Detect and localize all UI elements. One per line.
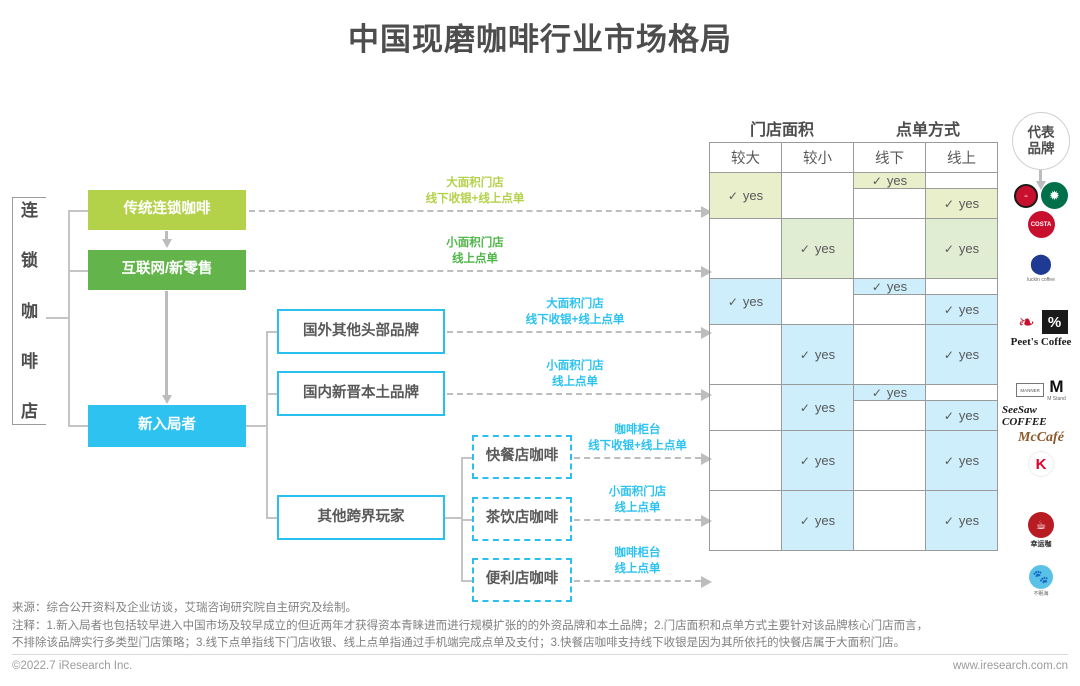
cell-order-online: ✓yes (926, 189, 998, 219)
check-icon: ✓ (728, 189, 738, 203)
footnote-line-1: 注释：1.新入局者也包括较早进入中国市场及较早成立的但近两年才获得资本青睐进而进… (12, 618, 1072, 635)
category-box-internet-newretail[interactable]: 互联网/新零售 (88, 250, 246, 290)
yes-marker: ✓yes (800, 513, 835, 528)
cell-order-online-empty (926, 279, 998, 295)
footer-divider (12, 654, 1068, 655)
cell-order-online: ✓yes (926, 431, 998, 491)
flow-label-line2: 线上点单 (555, 501, 720, 517)
brand-logos-row-4: MANNER M M Stand SeeSaw COFFEE (1002, 378, 1080, 428)
subcategory-box-cross-industry-players[interactable]: 其他跨界玩家 (277, 495, 445, 540)
logo-m-stand: M M Stand (1047, 378, 1066, 402)
bracket-col2-trunk (266, 331, 268, 517)
flow-label-row-6: 小面积门店 线上点单 (555, 485, 720, 516)
footnotes: 注释：1.新入局者也包括较早进入中国市场及较早成立的但近两年才获得资本青睐进而进… (12, 618, 1072, 653)
flow-arrow-row-5 (574, 457, 701, 459)
bracket-col1-stem (46, 317, 69, 319)
check-icon: ✓ (944, 197, 954, 211)
yes-marker: ✓yes (944, 513, 979, 528)
cell-area-small (782, 279, 854, 325)
cell-order-offline (854, 219, 926, 279)
flow-label-row-5: 咖啡柜台 线下收银+线上点单 (555, 423, 720, 454)
yes-marker: ✓yes (944, 453, 979, 468)
brand-logos-row-1: ☕ ✹ COSTA (1002, 182, 1080, 238)
cell-area-large (710, 219, 782, 279)
cell-order-online: ✓yes (926, 491, 998, 551)
table-body: ✓yes✓yes✓yes✓yes✓yes✓yes✓yes✓yes✓yes✓yes… (710, 173, 998, 551)
cell-order-offline (854, 491, 926, 551)
bracket-col1-arm-1 (68, 210, 89, 212)
bracket-col1-arm-2 (68, 270, 89, 272)
cell-order-offline: ✓yes (854, 385, 926, 401)
brand-logos-row-2: ⬤ luckin coffee (1002, 250, 1080, 283)
arrow-internet-to-new-entrants (165, 291, 168, 396)
check-icon: ✓ (944, 454, 954, 468)
page-title: 中国现磨咖啡行业市场格局 (0, 14, 1080, 59)
cell-order-online-empty (926, 173, 998, 189)
yes-marker: ✓yes (800, 453, 835, 468)
logo-mccafe: McCafé (1002, 430, 1080, 446)
logo-luckin-coffee: ⬤ luckin coffee (1027, 250, 1055, 283)
arrow-traditional-to-internet (165, 231, 168, 240)
cell-order-online: ✓yes (926, 401, 998, 431)
check-icon: ✓ (944, 303, 954, 317)
flow-arrow-row-1 (249, 210, 701, 212)
capability-matrix-table: 较大 较小 线下 线上 ✓yes✓yes✓yes✓yes✓yes✓yes✓yes… (709, 142, 998, 551)
brand-logos-row-5: McCafé K (1002, 430, 1080, 477)
cell-area-small (782, 173, 854, 219)
table-row: ✓yes✓yes (710, 491, 998, 551)
table-row: ✓yes✓yes (710, 279, 998, 295)
yes-marker: ✓yes (944, 347, 979, 362)
flow-arrow-row-2 (249, 270, 701, 272)
subcategory-box-foreign-top-brands[interactable]: 国外其他头部品牌 (277, 309, 445, 354)
flow-label-line1: 小面积门店 (335, 236, 615, 252)
yes-marker: ✓yes (944, 196, 979, 211)
yes-marker: ✓yes (872, 173, 907, 188)
subcategory-box-domestic-new-brands[interactable]: 国内新晋本土品牌 (277, 371, 445, 416)
logo-wordmark: McCafé (1018, 430, 1064, 446)
logo-caption: 不眠海 (1033, 590, 1048, 597)
footer-copyright: ©2022.7 iResearch Inc. (12, 660, 132, 672)
brand-column-arrow-icon (1039, 170, 1042, 182)
check-icon: ✓ (728, 295, 738, 309)
flow-label-line1: 小面积门店 (450, 359, 700, 375)
yes-marker: ✓yes (728, 294, 763, 309)
slide-canvas: 中国现磨咖啡行业市场格局 连 锁 咖 啡 店 传统连锁咖啡 互联网/新零售 新入… (0, 0, 1080, 686)
left-label-char-0: 连 (21, 202, 38, 219)
cell-order-online: ✓yes (926, 295, 998, 325)
left-label-char-3: 啡 (21, 353, 38, 370)
flow-arrow-row-7 (574, 580, 701, 582)
logo-tim-hortons: ❧ (1015, 310, 1039, 334)
category-box-label: 传统连锁咖啡 (124, 201, 211, 218)
logo-caption: M Stand (1047, 396, 1066, 402)
flow-label-row-1: 大面积门店 线下收银+线上点单 (335, 176, 615, 207)
table-row: ✓yes✓yes (710, 219, 998, 279)
category-box-label: 互联网/新零售 (121, 261, 212, 278)
table-col-header-area-small: 较小 (782, 143, 854, 173)
table-row: ✓yes✓yes (710, 173, 998, 189)
category-box-traditional-chain[interactable]: 传统连锁咖啡 (88, 190, 246, 230)
cell-order-offline (854, 325, 926, 385)
cell-order-offline (854, 431, 926, 491)
footnote-line-2: 不排除该品牌实行多类型门店策略；3.线下点单指线下门店收银、线上点单指通过手机端… (12, 635, 1072, 652)
logo-arabica: % (1042, 310, 1068, 334)
cell-order-online: ✓yes (926, 325, 998, 385)
cell-area-large (710, 385, 782, 431)
check-icon: ✓ (800, 348, 810, 362)
check-icon: ✓ (872, 280, 882, 294)
flow-label-line2: 线上点单 (555, 562, 720, 578)
flow-label-line2: 线下收银+线上点单 (555, 439, 720, 455)
cell-order-online: ✓yes (926, 219, 998, 279)
check-icon: ✓ (800, 401, 810, 415)
logo-starbucks: ✹ (1041, 182, 1068, 209)
bracket-col1-arm-3 (68, 425, 89, 427)
table-col-header-order-online: 线上 (926, 143, 998, 173)
check-icon: ✓ (944, 348, 954, 362)
cell-area-large (710, 325, 782, 385)
logo-wordmark: SeeSaw COFFEE (1002, 404, 1080, 428)
logo-peets-coffee: Peet's Coffee (1002, 336, 1080, 348)
channel-box-label: 快餐店咖啡 (486, 448, 559, 465)
check-icon: ✓ (944, 242, 954, 256)
cell-area-large (710, 491, 782, 551)
bracket-col2-stem (246, 425, 266, 427)
brand-logos-row-3: ❧ % Peet's Coffee (1002, 310, 1080, 348)
cell-area-small: ✓yes (782, 325, 854, 385)
flow-label-row-7: 咖啡柜台 线上点单 (555, 546, 720, 577)
cell-order-online-empty (926, 385, 998, 401)
logo-caption: luckin coffee (1027, 277, 1055, 283)
cell-order-offline-empty (854, 401, 926, 431)
yes-marker: ✓yes (800, 241, 835, 256)
yes-marker: ✓yes (872, 279, 907, 294)
table-col-header-order-offline: 线下 (854, 143, 926, 173)
logo-wordmark: Peet's Coffee (1011, 336, 1072, 348)
check-icon: ✓ (872, 386, 882, 400)
left-label-char-1: 锁 (21, 252, 38, 269)
cell-area-small: ✓yes (782, 491, 854, 551)
footer-website[interactable]: www.iresearch.com.cn (953, 660, 1068, 672)
flow-label-row-3: 大面积门店 线下收银+线上点单 (450, 297, 700, 328)
logo-xingyunka: ☕ 幸运咖 (1028, 512, 1054, 549)
channel-box-label: 便利店咖啡 (486, 571, 559, 588)
yes-marker: ✓yes (800, 400, 835, 415)
logo-pacific-coffee: ☕ (1014, 184, 1038, 208)
channel-box-label: 茶饮店咖啡 (486, 510, 559, 527)
cell-area-large: ✓yes (710, 173, 782, 219)
check-icon: ✓ (800, 514, 810, 528)
cell-area-large (710, 431, 782, 491)
logo-caption: 幸运咖 (1031, 539, 1052, 549)
category-box-label: 新入局者 (138, 417, 196, 434)
flow-label-line2: 线上点单 (450, 375, 700, 391)
logo-manner: MANNER (1016, 383, 1044, 397)
flow-label-line2: 线下收银+线上点单 (335, 192, 615, 208)
flow-label-line1: 小面积门店 (555, 485, 720, 501)
flow-label-row-4: 小面积门店 线上点单 (450, 359, 700, 390)
flow-label-line1: 大面积门店 (335, 176, 615, 192)
flow-arrow-row-3 (447, 331, 701, 333)
table-col-header-area-large: 较大 (710, 143, 782, 173)
cell-area-small: ✓yes (782, 431, 854, 491)
cell-area-large: ✓yes (710, 279, 782, 325)
yes-marker: ✓yes (872, 385, 907, 400)
cell-order-offline: ✓yes (854, 173, 926, 189)
left-category-label: 连 锁 咖 啡 店 (12, 197, 46, 425)
table-row: ✓yes✓yes (710, 325, 998, 385)
brand-header-line2: 品牌 (1028, 141, 1055, 157)
check-icon: ✓ (800, 454, 810, 468)
yes-marker: ✓yes (728, 188, 763, 203)
table-row: ✓yes✓yes (710, 385, 998, 401)
flow-label-line1: 咖啡柜台 (555, 423, 720, 439)
logo-bumianhai: 🐾 不眠海 (1029, 565, 1053, 597)
yes-marker: ✓yes (800, 347, 835, 362)
yes-marker: ✓yes (944, 302, 979, 317)
subcategory-box-label: 国内新晋本土品牌 (303, 385, 419, 402)
brand-logos-row-6: ☕ 幸运咖 (1002, 512, 1080, 549)
cell-area-small: ✓yes (782, 219, 854, 279)
check-icon: ✓ (872, 174, 882, 188)
cell-area-small: ✓yes (782, 385, 854, 431)
cell-order-offline-empty (854, 295, 926, 325)
source-note: 来源：综合公开资料及企业访谈，艾瑞咨询研究院自主研究及绘制。 (12, 600, 1068, 617)
brand-column-header: 代表 品牌 (1012, 112, 1070, 170)
left-label-char-4: 店 (21, 403, 38, 420)
brand-header-line1: 代表 (1028, 125, 1055, 141)
flow-label-row-2: 小面积门店 线上点单 (335, 236, 615, 267)
yes-marker: ✓yes (944, 408, 979, 423)
subcategory-box-label: 国外其他头部品牌 (303, 323, 419, 340)
left-label-char-2: 咖 (21, 303, 38, 320)
table-header-row: 较大 较小 线下 线上 (710, 143, 998, 173)
subcategory-box-label: 其他跨界玩家 (318, 509, 405, 526)
flow-arrow-row-4 (447, 393, 701, 395)
check-icon: ✓ (944, 409, 954, 423)
check-icon: ✓ (800, 242, 810, 256)
table-row: ✓yes✓yes (710, 431, 998, 491)
brand-logos-row-7: 🐾 不眠海 (1002, 565, 1080, 597)
category-box-new-entrants[interactable]: 新入局者 (88, 405, 246, 447)
cell-order-offline-empty (854, 189, 926, 219)
cell-order-offline: ✓yes (854, 279, 926, 295)
logo-seesaw-coffee: SeeSaw COFFEE (1002, 404, 1080, 428)
flow-label-line1: 大面积门店 (450, 297, 700, 313)
logo-k-coffee: K (1028, 451, 1054, 477)
table-group-header-store-area: 门店面积 (709, 116, 855, 140)
check-icon: ✓ (944, 514, 954, 528)
flow-arrow-row-6 (574, 519, 701, 521)
yes-marker: ✓yes (944, 241, 979, 256)
flow-label-line2: 线上点单 (335, 252, 615, 268)
flow-label-line2: 线下收银+线上点单 (450, 313, 700, 329)
table-group-header-order-method: 点单方式 (855, 116, 1001, 140)
logo-costa-coffee: COSTA (1028, 211, 1055, 238)
flow-label-line1: 咖啡柜台 (555, 546, 720, 562)
bracket-col3-stem (445, 517, 461, 519)
